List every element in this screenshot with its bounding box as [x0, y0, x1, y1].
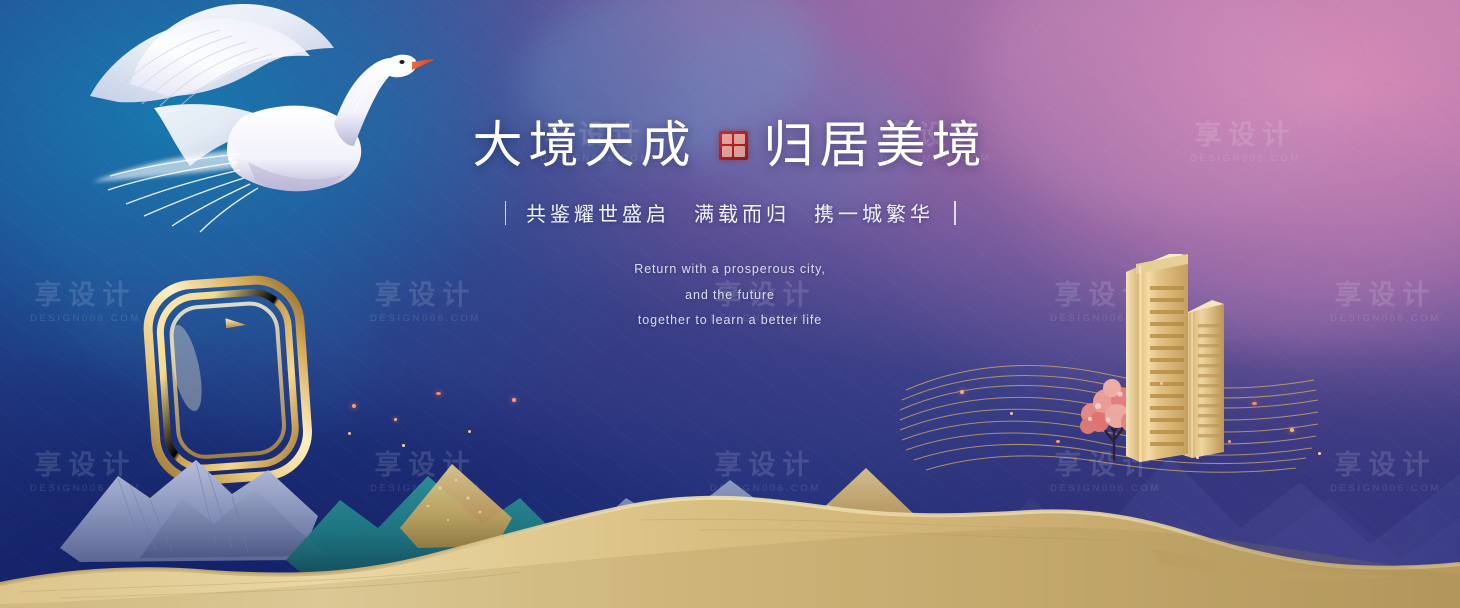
divider-bar-left [505, 201, 507, 225]
subtitle-row: 共鉴耀世盛启 满载而归 携一城繁华 [0, 198, 1460, 227]
seal-characters [722, 134, 745, 157]
title-row: 大境天成 归居美境 [0, 118, 1460, 172]
title-right: 归居美境 [764, 118, 988, 172]
landscape-scenery [0, 348, 1460, 608]
seal-stamp-icon [719, 131, 748, 160]
title-left: 大境天成 [473, 118, 697, 172]
divider-bar-right [954, 201, 956, 225]
poster-canvas: 享设计DESIGN006.COM 享设计DESIGN006.COM 享设计DES… [0, 0, 1460, 608]
subtitle-text: 共鉴耀世盛启 满载而归 携一城繁华 [526, 198, 934, 227]
